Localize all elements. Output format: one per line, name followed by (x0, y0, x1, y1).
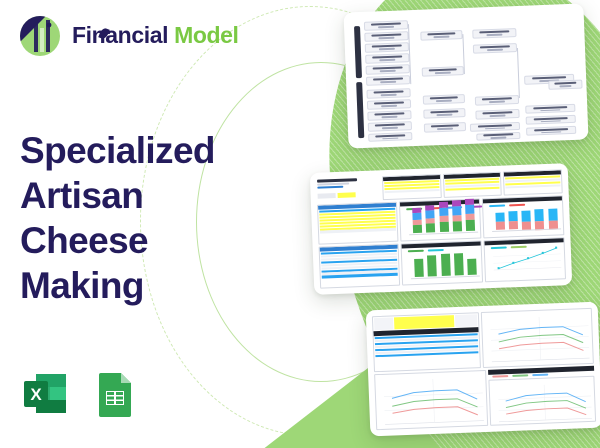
profit-bar (508, 211, 518, 229)
cash-flow-chart (401, 240, 483, 285)
node-interest-expense (366, 64, 410, 75)
cost-inputs-table (317, 202, 399, 245)
projections-grid (372, 308, 596, 430)
stacked-bar (425, 205, 435, 232)
tree-connector (462, 34, 474, 74)
investment-payback-chart (484, 237, 566, 282)
node-revenue-3 (423, 94, 465, 105)
node-revenue (364, 20, 408, 31)
financial-model-circle-logo-icon (18, 14, 62, 58)
ebitda-comparison-chart (488, 376, 596, 426)
tree-connector (517, 48, 527, 98)
brand-wordmark: Financial Model (72, 24, 239, 48)
node-net-income (420, 30, 462, 41)
node-total-assets (423, 108, 465, 119)
ratio-tree-diagram (350, 10, 583, 143)
margin-line-series-2 (383, 377, 484, 428)
node-net-profit-margin (473, 43, 517, 54)
profitability-chart (482, 195, 564, 238)
ebitda-line-series (498, 383, 592, 426)
projections-table (372, 312, 481, 372)
title-line-3: Cheese (20, 218, 270, 263)
title-line-2: Artisan (20, 173, 270, 218)
dashboard-grid (316, 169, 566, 288)
node-ar-turnover (475, 109, 519, 120)
cashflow-bar (414, 259, 424, 277)
projections-charts-card[interactable] (366, 302, 600, 437)
inputs-panel (443, 172, 502, 198)
dashboard-title-block (316, 176, 381, 202)
brand-lockup: Financial Model (18, 14, 239, 58)
node-accounts-receivable (366, 88, 410, 99)
balance-sheet-rail (356, 82, 364, 138)
margin-line-series-1 (490, 315, 590, 366)
node-current-liabilities (368, 121, 412, 132)
node-non-current-assets (367, 110, 411, 121)
svg-text:X: X (30, 385, 42, 404)
stacked-bar (438, 202, 448, 232)
income-statement-rail (354, 26, 362, 78)
page-title: Specialized Artisan Cheese Making (20, 128, 270, 309)
tree-connector (408, 24, 422, 84)
dupont-ratio-tree-card[interactable] (343, 3, 588, 148)
profit-bar (548, 208, 558, 229)
node-current-ratio (526, 115, 576, 125)
node-financial-leverage-multiplier (526, 126, 576, 136)
margin-trend-chart-2 (374, 370, 488, 430)
profit-bar (535, 209, 545, 230)
node-total-asset-turnover (475, 95, 519, 106)
cashflow-bar (454, 253, 464, 275)
node-return-on-equity (548, 80, 582, 90)
node-total-liabilities (424, 122, 466, 133)
profit-bar (495, 212, 505, 229)
margin-trend-chart-1 (481, 308, 594, 368)
stacked-bar (452, 200, 462, 231)
profit-bar (522, 210, 532, 229)
financial-dashboard-card[interactable] (310, 163, 572, 295)
stacked-bar (412, 208, 422, 233)
brand-word-one: Financial (72, 22, 168, 48)
node-operating-expenses (365, 42, 409, 53)
cashflow-bar (440, 254, 450, 276)
node-cogs (364, 31, 408, 42)
node-debt-equity-assets (470, 122, 520, 132)
microsoft-excel-icon[interactable]: X (20, 368, 72, 420)
node-corporate-taxes (366, 75, 410, 86)
node-current-assets (367, 99, 411, 110)
payback-line-series (493, 244, 562, 274)
node-shareholders-equity (476, 132, 520, 141)
file-format-icons: X (20, 368, 141, 420)
revenue-streams-chart (399, 198, 481, 241)
brand-word-two: Model (174, 22, 238, 48)
thumbnail-canvas: Financial Model Specialized Artisan Chee… (0, 0, 600, 448)
assumptions-panel (382, 174, 441, 200)
title-line-4: Making (20, 263, 270, 308)
google-sheets-icon[interactable] (89, 368, 141, 420)
node-revenue-2 (422, 66, 464, 77)
node-equity (368, 132, 412, 142)
node-gross-margin (472, 28, 516, 39)
cashflow-bar (467, 259, 477, 275)
cashflow-bar (427, 255, 437, 276)
stacked-bar (465, 199, 475, 231)
cost-structure-table (319, 244, 401, 289)
node-leverage (525, 104, 575, 114)
node-depreciation (365, 53, 409, 64)
summary-panel (503, 169, 562, 195)
title-line-1: Specialized (20, 128, 270, 173)
